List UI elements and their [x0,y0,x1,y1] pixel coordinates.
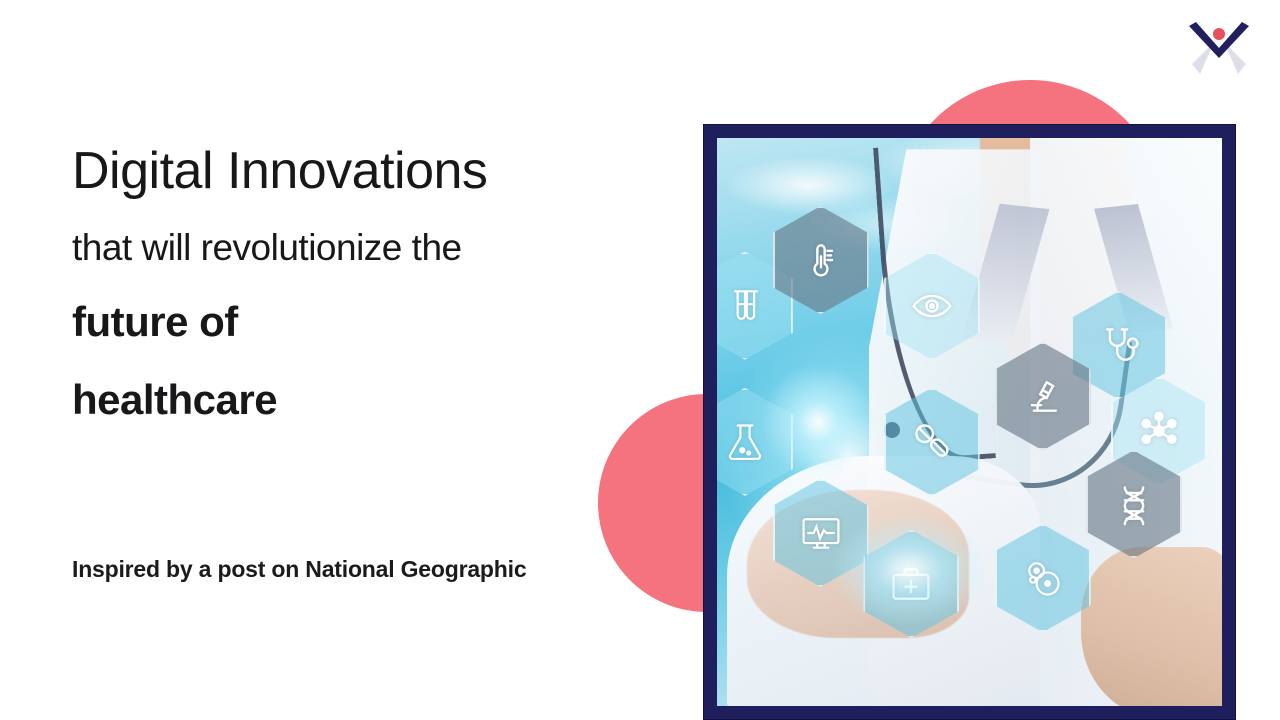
hex-pills [884,388,980,496]
hexagon-icon-grid [717,138,1222,706]
first-aid-icon [889,562,933,606]
eye-icon [910,284,954,328]
headline-line-3: future of [72,294,672,350]
photo-image [717,138,1222,706]
dna-icon [1112,482,1156,526]
pills-icon [910,420,954,464]
brand-logo[interactable] [1184,12,1254,76]
headline-block: Digital Innovations that will revolution… [72,140,672,428]
slide-canvas: Digital Innovations that will revolution… [0,0,1280,720]
molecule-icon [1137,409,1181,453]
hex-cells [995,524,1091,632]
photo-frame [703,124,1236,720]
headline-line-2: that will revolutionize the [72,224,672,272]
headline-line-1: Digital Innovations [72,140,672,202]
attribution-text: Inspired by a post on National Geographi… [72,556,526,583]
stethoscope-icon [1097,323,1141,367]
microscope-icon [1021,374,1065,418]
headline-line-4: healthcare [72,372,672,428]
flask-icon [723,420,767,464]
hex-first-aid [863,530,959,638]
cells-icon [1021,556,1065,600]
thermometer-icon [799,238,843,282]
test-tubes-icon [723,284,767,328]
hex-flask [717,388,793,496]
ecg-monitor-icon [799,511,843,555]
brand-logo-mark [1184,12,1254,76]
hex-eye [884,252,980,360]
hex-ecg-monitor [773,479,869,587]
